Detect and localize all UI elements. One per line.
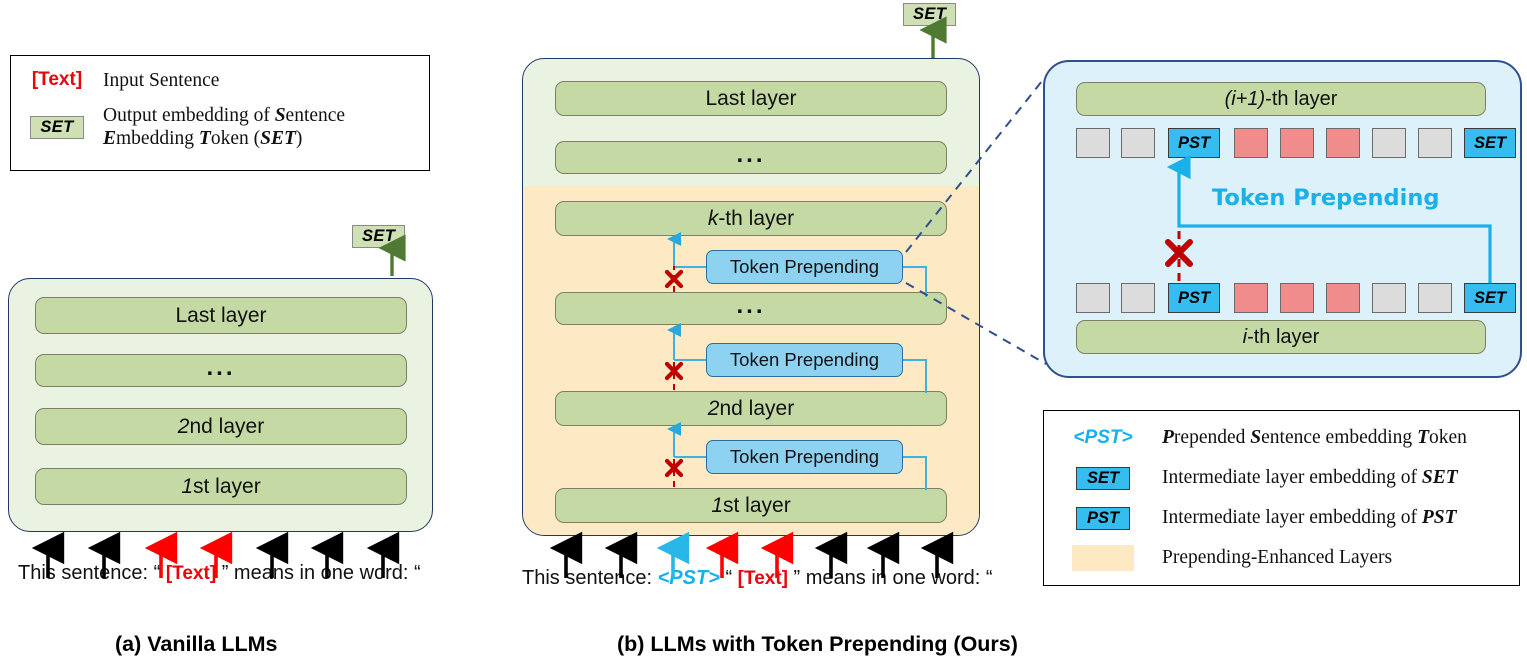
token-gray bbox=[1372, 283, 1406, 313]
panel-b-token-prepending-llm: SET Last layer ... k-th layer ... 2nd la… bbox=[510, 0, 1010, 620]
panel-b-token-prepending-3[interactable]: Token Prepending bbox=[706, 250, 903, 284]
legend-key-set-blue: SET bbox=[1044, 467, 1162, 490]
panel-b-token-prepending-2[interactable]: Token Prepending bbox=[706, 343, 903, 377]
panel-a-caption: (a) Vanilla LLMs bbox=[115, 632, 277, 657]
legend-input-output: [Text] Input Sentence SET Output embeddi… bbox=[10, 55, 430, 171]
panel-a-output-set-chip: SET bbox=[352, 225, 405, 248]
token-gray bbox=[1076, 283, 1110, 313]
token-set: SET bbox=[1464, 128, 1516, 158]
token-pst: PST bbox=[1168, 283, 1220, 313]
panel-b-layer-ellipsis-top: ... bbox=[555, 141, 947, 174]
legend-text-prepending-enhanced: Prepending-Enhanced Layers bbox=[1162, 547, 1392, 569]
detail-bottom-token-row: PST SET bbox=[1076, 283, 1486, 313]
legend-key-text-tag: [Text] bbox=[11, 69, 103, 91]
panel-b-output-set-chip: SET bbox=[903, 3, 956, 26]
token-gray bbox=[1372, 128, 1406, 158]
token-set: SET bbox=[1464, 283, 1516, 313]
token-text bbox=[1234, 283, 1268, 313]
legend-text-pst: Prepended Sentence embedding Token bbox=[1162, 427, 1467, 449]
detail-token-prepending-label: Token Prepending bbox=[1212, 185, 1439, 211]
panel-b-input-sentence: This sentence: <PST> “ [Text] ” means in… bbox=[522, 567, 993, 590]
legend-key-pst-blue: PST bbox=[1044, 507, 1162, 530]
token-text bbox=[1234, 128, 1268, 158]
panel-b-layer-ellipsis-mid: ... bbox=[555, 292, 947, 325]
legend-key-pst-tag: <PST> bbox=[1044, 427, 1162, 449]
detail-layer-i: i-th layer bbox=[1076, 320, 1486, 354]
token-text bbox=[1280, 128, 1314, 158]
token-text bbox=[1326, 283, 1360, 313]
prepending-enhanced-swatch bbox=[1072, 545, 1134, 571]
legend-key-yellow-swatch bbox=[1044, 545, 1162, 571]
panel-b-layer-last: Last layer bbox=[555, 81, 947, 116]
token-text bbox=[1280, 283, 1314, 313]
detail-layer-i-plus-1: (i+1)-th layer bbox=[1076, 82, 1486, 116]
panel-b-layer-k: k-th layer bbox=[555, 201, 947, 236]
legend-text-pst-intermediate: Intermediate layer embedding of PST bbox=[1162, 507, 1457, 529]
token-gray bbox=[1121, 128, 1155, 158]
legend-text-input-sentence: Input Sentence bbox=[103, 69, 219, 92]
panel-a-vanilla-llm: SET Last layer ... 2nd layer 1st layer T… bbox=[0, 220, 440, 620]
legend-text-set-intermediate: Intermediate layer embedding of SET bbox=[1162, 467, 1458, 489]
panel-b-layer-1st: 1st layer bbox=[555, 488, 947, 523]
legend-pst-set: <PST> Prepended Sentence embedding Token… bbox=[1043, 410, 1520, 586]
panel-a-input-sentence: This sentence: “ [Text] ” means in one w… bbox=[18, 562, 421, 585]
panel-b-layer-2nd: 2nd layer bbox=[555, 391, 947, 426]
set-chip: SET bbox=[30, 116, 83, 139]
token-gray bbox=[1121, 283, 1155, 313]
detail-top-token-row: PST SET bbox=[1076, 128, 1486, 158]
token-gray bbox=[1076, 128, 1110, 158]
panel-b-token-prepending-1[interactable]: Token Prepending bbox=[706, 440, 903, 474]
legend-text-set-line2: Embedding Token (SET) bbox=[103, 127, 345, 150]
token-gray bbox=[1418, 283, 1452, 313]
panel-a-layer-1st: 1st layer bbox=[35, 468, 407, 505]
token-pst: PST bbox=[1168, 128, 1220, 158]
text-tag-label: [Text] bbox=[32, 69, 82, 90]
legend-key-set-chip: SET bbox=[11, 104, 103, 139]
legend-text-set-line1: Output embedding of Sentence bbox=[103, 104, 345, 127]
token-text bbox=[1326, 128, 1360, 158]
panel-a-layer-2nd: 2nd layer bbox=[35, 408, 407, 445]
panel-a-layer-ellipsis: ... bbox=[35, 354, 407, 387]
panel-a-layer-last: Last layer bbox=[35, 297, 407, 334]
panel-b-caption: (b) LLMs with Token Prepending (Ours) bbox=[617, 632, 1018, 657]
token-gray bbox=[1418, 128, 1452, 158]
